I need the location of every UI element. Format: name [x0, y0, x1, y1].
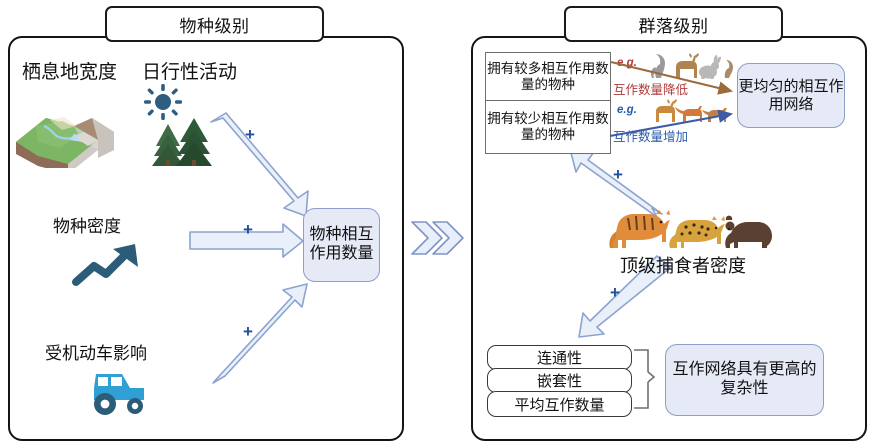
- figure-canvas: 物种级别 群落级别 栖息地宽度 日行性活动 物种密度 受机动车影响: [0, 0, 871, 445]
- plus-sign-vehicle-impact: +: [243, 322, 253, 342]
- plus-sign-predator-to-species-groups: +: [613, 165, 623, 185]
- metric-box-mean-interactions[interactable]: 平均互作数量: [487, 391, 632, 417]
- node-network-higher-complexity[interactable]: 互作网络具有更高的复杂性: [665, 344, 824, 416]
- metric-box-nestedness-text: 嵌套性: [537, 370, 582, 391]
- plus-sign-predator-to-metrics: +: [610, 283, 620, 303]
- tiger-leopard-bear-icon: [604, 208, 774, 254]
- species-group-fewer-interactions[interactable]: 拥有较少相互作用数量的物种: [485, 100, 611, 154]
- node-species-interaction-count-text: 物种相互作用数量: [304, 226, 379, 264]
- panel-title-community-level-text: 群落级别: [639, 12, 709, 37]
- node-network-higher-complexity-text: 互作网络具有更高的复杂性: [666, 361, 823, 399]
- double-chevron-right-icon: [412, 222, 463, 254]
- gray-small-mammals-icon: [648, 52, 734, 80]
- eg-label-decrease: e.g.: [617, 57, 637, 69]
- species-group-more-interactions-text: 拥有较多相互作用数量的物种: [486, 61, 610, 94]
- metric-box-connectance[interactable]: 连通性: [487, 345, 632, 370]
- sun-and-trees-icon: [138, 80, 222, 166]
- habitat-block-icon: [14, 96, 118, 168]
- orange-deer-and-canids-icon: [650, 99, 732, 123]
- metric-box-connectance-text: 连通性: [537, 347, 582, 368]
- plus-sign-species-density: +: [243, 220, 253, 240]
- metric-box-nestedness[interactable]: 嵌套性: [487, 368, 632, 393]
- eg-label-increase: e.g.: [617, 104, 637, 116]
- tractor-icon: [82, 368, 152, 416]
- species-group-fewer-interactions-text: 拥有较少相互作用数量的物种: [486, 111, 610, 144]
- node-more-even-interaction-network[interactable]: 更均匀的相互作用网络: [737, 63, 845, 128]
- panel-title-species-level-text: 物种级别: [180, 12, 250, 37]
- driver-label-habitat-width: 栖息地宽度: [22, 57, 117, 84]
- metric-box-mean-interactions-text: 平均互作数量: [514, 394, 604, 415]
- plus-sign-habitat-diurnal: +: [245, 125, 255, 145]
- panel-title-community-level: 群落级别: [564, 6, 783, 42]
- node-more-even-interaction-network-text: 更均匀的相互作用网络: [738, 78, 844, 113]
- upward-trend-arrow-icon: [72, 240, 144, 288]
- panel-title-species-level: 物种级别: [105, 6, 324, 42]
- driver-label-species-density: 物种密度: [53, 212, 121, 237]
- predator-density-label: 顶级捕食者密度: [620, 252, 746, 278]
- arrow-label-interaction-increase: 互作数量增加: [613, 126, 688, 145]
- node-species-interaction-count[interactable]: 物种相互作用数量: [303, 208, 380, 282]
- species-group-more-interactions[interactable]: 拥有较多相互作用数量的物种: [485, 52, 611, 102]
- arrow-label-interaction-decrease: 互作数量降低: [613, 79, 688, 98]
- driver-label-vehicle-impact: 受机动车影响: [45, 339, 147, 364]
